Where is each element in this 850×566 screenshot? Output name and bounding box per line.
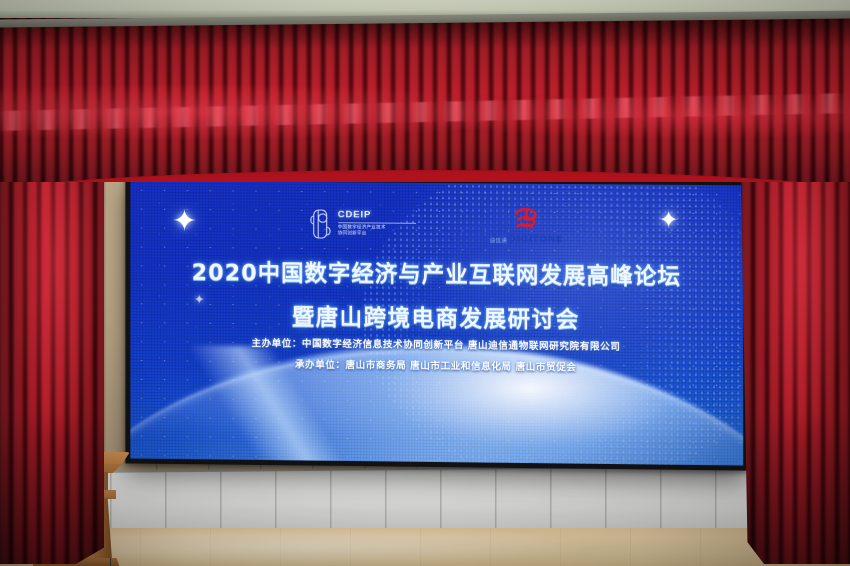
organizers-block: 主办单位：中国数字经济信息技术协同创新平台 唐山迪信通物联网研究院有限公司 承办… (130, 334, 743, 375)
digitone-swirl-icon (511, 206, 541, 233)
logo-row: CDEIP 中国数字经济产业技术 协同创新平台 (130, 203, 743, 247)
valance-highlight (0, 16, 850, 182)
digitone-name-cn: 迪信通 (490, 236, 507, 244)
led-screen-bezel: ✦ ✦ ✦ CDEIP (125, 177, 748, 471)
stage-curtain-valance (0, 16, 850, 182)
cdeip-subtitle-line-2: 协同创新平台 (338, 231, 398, 238)
ceiling (0, 0, 850, 18)
cdeip-divider (338, 222, 416, 224)
event-title-line-2: 暨唐山跨境电商发展研讨会 (130, 298, 743, 336)
cdeip-monogram-icon (309, 206, 333, 240)
event-title-line-1: 2020中国数字经济与产业互联网发展高峰论坛 (130, 254, 743, 291)
cdeip-name: CDEIP (338, 209, 416, 221)
cdeip-subtitle: 中国数字经济产业技术 协同创新平台 (338, 225, 398, 239)
stage-scene: ✦ ✦ ✦ CDEIP (0, 0, 850, 566)
event-title-block: 2020中国数字经济与产业互联网发展高峰论坛 暨唐山跨境电商发展研讨会 (130, 254, 743, 336)
digitone-wordmark: 迪信通 DIGITONE (490, 234, 563, 245)
podium-cable (110, 558, 120, 566)
led-screen-display: ✦ ✦ ✦ CDEIP (130, 181, 743, 466)
digitone-logo: 迪信通 DIGITONE (490, 205, 563, 245)
digitone-name-en: DIGITONE (509, 235, 563, 245)
cdeip-logo: CDEIP 中国数字经济产业技术 协同创新平台 (309, 206, 416, 241)
cdeip-text-block: CDEIP 中国数字经济产业技术 协同创新平台 (338, 209, 416, 238)
